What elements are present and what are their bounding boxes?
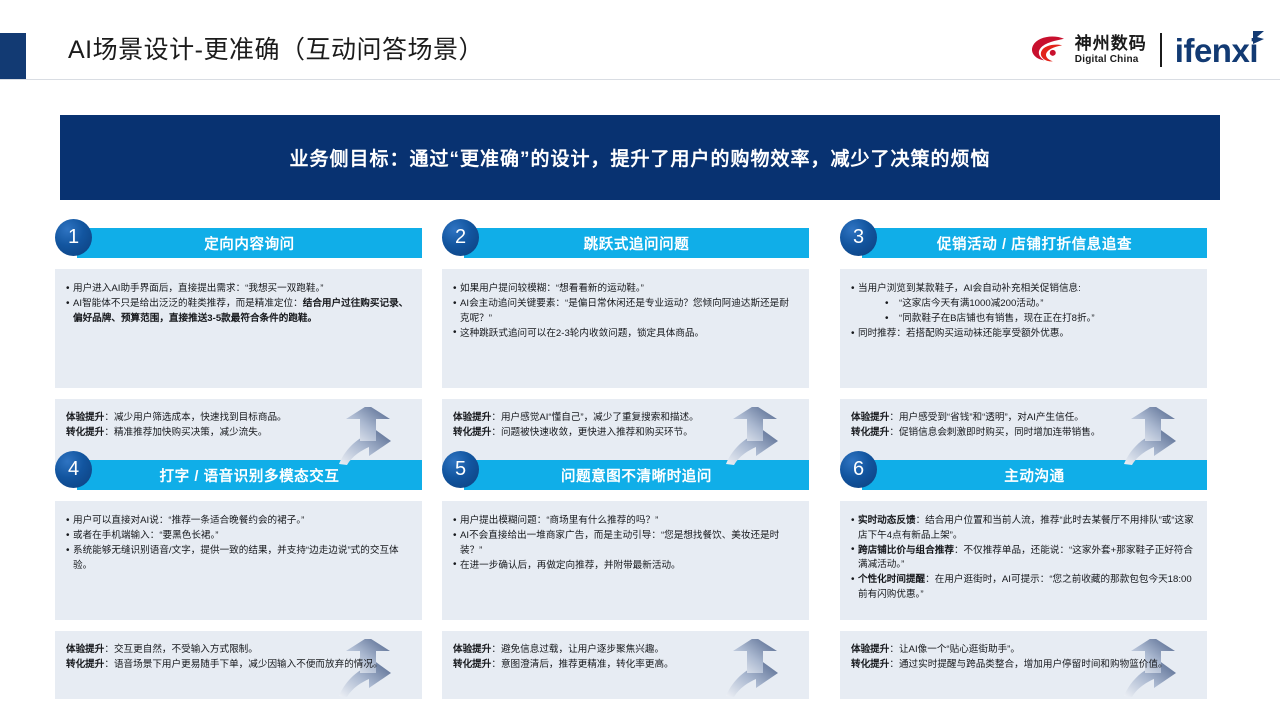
conversion-uplift-value: 精准推荐加快购买决策，减少流失。: [114, 427, 268, 438]
conversion-uplift-row: 转化提升：通过实时提醒与跨品类整合，增加用户停留时间和购物篮价值。: [851, 658, 1196, 673]
card-title-bar: 打字 / 语音识别多模态交互: [77, 460, 422, 490]
experience-uplift-label: 体验提升: [851, 644, 889, 655]
experience-uplift-value: 用户感觉AI“懂自己”，减少了重复搜索和描述。: [501, 412, 699, 423]
card-bullet-list: 如果用户提问较模糊：“想看看新的运动鞋。”AI会主动追问关键要素：“是偏日常休闲…: [453, 282, 798, 341]
card-title-bar: 促销活动 / 店铺打折信息追查: [862, 228, 1207, 258]
experience-uplift-label: 体验提升: [453, 412, 491, 423]
card-benefit-text: 体验提升：减少用户筛选成本，快速找到目标商品。转化提升：精准推荐加快购买决策，减…: [66, 411, 411, 440]
card-bullet-item: 这种跳跃式追问可以在2-3轮内收敛问题，锁定具体商品。: [453, 327, 798, 342]
card-description-panel: 实时动态反馈：结合用户位置和当前人流，推荐“此时去某餐厅不用排队”或“这家店下午…: [840, 501, 1207, 620]
experience-uplift-label: 体验提升: [851, 412, 889, 423]
experience-uplift-row: 体验提升：用户感觉AI“懂自己”，减少了重复搜索和描述。: [453, 411, 798, 426]
scenario-card: 跳跃式追问问题2如果用户提问较模糊：“想看看新的运动鞋。”AI会主动追问关键要素…: [442, 228, 809, 467]
card-header: 主动沟通6: [840, 460, 1207, 490]
card-bullet-item: 个性化时间提醒：在用户逛街时，AI可提示：“您之前收藏的那款包包今天18:00前…: [851, 573, 1196, 602]
card-benefit-panel: 体验提升：用户感觉AI“懂自己”，减少了重复搜索和描述。转化提升：问题被快速收敛…: [442, 399, 809, 467]
card-benefit-text: 体验提升：避免信息过载，让用户逐步聚焦兴趣。转化提升：意图澄清后，推荐更精准，转…: [453, 643, 798, 672]
scenario-card: 定向内容询问1用户进入AI助手界面后，直接提出需求：“我想买一双跑鞋。”AI智能…: [55, 228, 422, 467]
conversion-uplift-row: 转化提升：问题被快速收敛，更快进入推荐和购买环节。: [453, 426, 798, 441]
card-number-badge: 2: [442, 219, 479, 256]
card-benefit-panel: 体验提升：交互更自然，不受输入方式限制。转化提升：语音场景下用户更易随手下单，减…: [55, 631, 422, 699]
header-divider: [0, 79, 1280, 80]
card-bullet-item: 当用户浏览到某款鞋子，AI会自动补充相关促销信息:: [851, 282, 1196, 297]
conversion-uplift-value: 意图澄清后，推荐更精准，转化率更高。: [501, 659, 674, 670]
conversion-uplift-row: 转化提升：精准推荐加快购买决策，减少流失。: [66, 426, 411, 441]
experience-uplift-value: 避免信息过载，让用户逐步聚焦兴趣。: [501, 644, 664, 655]
card-bullet-item: 用户进入AI助手界面后，直接提出需求：“我想买一双跑鞋。”: [66, 282, 411, 297]
card-title: 定向内容询问: [204, 233, 295, 254]
ifenxi-logo: ifenxi: [1175, 34, 1262, 67]
card-benefit-panel: 体验提升：减少用户筛选成本，快速找到目标商品。转化提升：精准推荐加快购买决策，减…: [55, 399, 422, 467]
page-header: AI场景设计-更准确（互动问答场景） 神州数码 Digital China if…: [0, 0, 1280, 80]
scenario-card-grid: 定向内容询问1用户进入AI助手界面后，直接提出需求：“我想买一双跑鞋。”AI智能…: [55, 228, 1230, 698]
experience-uplift-value: 交互更自然，不受输入方式限制。: [114, 644, 258, 655]
scenario-card: 促销活动 / 店铺打折信息追查3当用户浏览到某款鞋子，AI会自动补充相关促销信息…: [840, 228, 1207, 467]
conversion-uplift-label: 转化提升: [851, 659, 889, 670]
conversion-uplift-label: 转化提升: [66, 427, 104, 438]
experience-uplift-row: 体验提升：让AI像一个“贴心逛街助手”。: [851, 643, 1196, 658]
card-title-bar: 跳跃式追问问题: [464, 228, 809, 258]
card-bullet-item: 或者在手机端输入：“要黑色长裙。”: [66, 529, 411, 544]
digital-china-wordmark: 神州数码 Digital China: [1075, 35, 1147, 65]
card-title: 跳跃式追问问题: [584, 233, 690, 254]
digital-china-swoosh-icon: [1030, 35, 1068, 65]
card-number-badge: 6: [840, 451, 877, 488]
conversion-uplift-label: 转化提升: [453, 427, 491, 438]
card-title: 主动沟通: [1004, 465, 1064, 486]
card-description-panel: 当用户浏览到某款鞋子，AI会自动补充相关促销信息:“这家店今天有满1000减20…: [840, 269, 1207, 388]
experience-uplift-label: 体验提升: [453, 644, 491, 655]
experience-uplift-value: 用户感受到“省钱”和“透明”，对AI产生信任。: [899, 412, 1084, 423]
logo-group: 神州数码 Digital China ifenxi: [1030, 27, 1262, 73]
card-bullet-item: 实时动态反馈：结合用户位置和当前人流，推荐“此时去某餐厅不用排队”或“这家店下午…: [851, 514, 1196, 543]
conversion-uplift-value: 语音场景下用户更易随手下单，减少因输入不便而放弃的情况。: [114, 659, 383, 670]
card-bullet-list: 实时动态反馈：结合用户位置和当前人流，推荐“此时去某餐厅不用排队”或“这家店下午…: [851, 514, 1196, 602]
card-bullet-item: 用户提出模糊问题：“商场里有什么推荐的吗？”: [453, 514, 798, 529]
experience-uplift-value: 减少用户筛选成本，快速找到目标商品。: [114, 412, 287, 423]
card-title-bar: 问题意图不清晰时追问: [464, 460, 809, 490]
card-description-panel: 用户提出模糊问题：“商场里有什么推荐的吗？”AI不会直接给出一堆商家广告，而是主…: [442, 501, 809, 620]
card-title-bar: 定向内容询问: [77, 228, 422, 258]
conversion-uplift-label: 转化提升: [851, 427, 889, 438]
page-title: AI场景设计-更准确（互动问答场景）: [68, 33, 484, 67]
card-header: 定向内容询问1: [55, 228, 422, 258]
conversion-uplift-label: 转化提升: [66, 659, 104, 670]
card-bullet-item: 如果用户提问较模糊：“想看看新的运动鞋。”: [453, 282, 798, 297]
ifenxi-flag-icon: [1252, 30, 1265, 45]
conversion-uplift-row: 转化提升：意图澄清后，推荐更精准，转化率更高。: [453, 658, 798, 673]
digital-china-name-en: Digital China: [1075, 55, 1147, 65]
card-number-badge: 1: [55, 219, 92, 256]
card-bullet-item: 在进一步确认后，再做定向推荐，并附带最新活动。: [453, 559, 798, 574]
card-bullet-list: 用户进入AI助手界面后，直接提出需求：“我想买一双跑鞋。”AI智能体不只是给出泛…: [66, 282, 411, 326]
card-bullet-item: 跨店铺比价与组合推荐：不仅推荐单品，还能说：“这家外套+那家鞋子正好符合满减活动…: [851, 544, 1196, 573]
card-bullet-list: 用户可以直接对AI说：“推荐一条适合晚餐约会的裙子。”或者在手机端输入：“要黑色…: [66, 514, 411, 573]
experience-uplift-row: 体验提升：减少用户筛选成本，快速找到目标商品。: [66, 411, 411, 426]
card-number-badge: 5: [442, 451, 479, 488]
experience-uplift-label: 体验提升: [66, 644, 104, 655]
card-number-badge: 4: [55, 451, 92, 488]
card-bullet-list: 用户提出模糊问题：“商场里有什么推荐的吗？”AI不会直接给出一堆商家广告，而是主…: [453, 514, 798, 573]
card-title: 问题意图不清晰时追问: [561, 465, 712, 486]
digital-china-logo: 神州数码 Digital China: [1030, 35, 1147, 65]
experience-uplift-value: 让AI像一个“贴心逛街助手”。: [899, 644, 1020, 655]
card-bullet-item: 系统能够无缝识别语音/文字，提供一致的结果，并支持“边走边说”式的交互体验。: [66, 544, 411, 573]
card-title: 促销活动 / 店铺打折信息追查: [937, 233, 1132, 254]
objective-banner-text: 业务侧目标：通过“更准确”的设计，提升了用户的购物效率，减少了决策的烦恼: [289, 144, 990, 171]
card-bullet-list: 当用户浏览到某款鞋子，AI会自动补充相关促销信息:“这家店今天有满1000减20…: [851, 282, 1196, 342]
experience-uplift-label: 体验提升: [66, 412, 104, 423]
card-title: 打字 / 语音识别多模态交互: [160, 465, 340, 486]
card-bullet-item: “这家店今天有满1000减200活动。”: [851, 297, 1196, 312]
card-number-badge: 3: [840, 219, 877, 256]
card-benefit-text: 体验提升：让AI像一个“贴心逛街助手”。转化提升：通过实时提醒与跨品类整合，增加…: [851, 643, 1196, 672]
card-title-bar: 主动沟通: [862, 460, 1207, 490]
card-header: 促销活动 / 店铺打折信息追查3: [840, 228, 1207, 258]
card-benefit-panel: 体验提升：让AI像一个“贴心逛街助手”。转化提升：通过实时提醒与跨品类整合，增加…: [840, 631, 1207, 699]
conversion-uplift-row: 转化提升：促销信息会刺激即时购买，同时增加连带销售。: [851, 426, 1196, 441]
card-benefit-text: 体验提升：交互更自然，不受输入方式限制。转化提升：语音场景下用户更易随手下单，减…: [66, 643, 411, 672]
card-header: 跳跃式追问问题2: [442, 228, 809, 258]
conversion-uplift-row: 转化提升：语音场景下用户更易随手下单，减少因输入不便而放弃的情况。: [66, 658, 411, 673]
scenario-card: 主动沟通6实时动态反馈：结合用户位置和当前人流，推荐“此时去某餐厅不用排队”或“…: [840, 460, 1207, 699]
card-header: 打字 / 语音识别多模态交互4: [55, 460, 422, 490]
card-benefit-panel: 体验提升：避免信息过载，让用户逐步聚焦兴趣。转化提升：意图澄清后，推荐更精准，转…: [442, 631, 809, 699]
header-accent-tab: [0, 33, 26, 80]
logo-divider: [1160, 33, 1162, 67]
card-bullet-item: AI不会直接给出一堆商家广告，而是主动引导：“您是想找餐饮、美妆还是时装？”: [453, 529, 798, 558]
conversion-uplift-value: 促销信息会刺激即时购买，同时增加连带销售。: [899, 427, 1100, 438]
experience-uplift-row: 体验提升：交互更自然，不受输入方式限制。: [66, 643, 411, 658]
scenario-card: 问题意图不清晰时追问5用户提出模糊问题：“商场里有什么推荐的吗？”AI不会直接给…: [442, 460, 809, 699]
card-description-panel: 用户可以直接对AI说：“推荐一条适合晚餐约会的裙子。”或者在手机端输入：“要黑色…: [55, 501, 422, 620]
card-benefit-text: 体验提升：用户感受到“省钱”和“透明”，对AI产生信任。转化提升：促销信息会刺激…: [851, 411, 1196, 440]
card-description-panel: 用户进入AI助手界面后，直接提出需求：“我想买一双跑鞋。”AI智能体不只是给出泛…: [55, 269, 422, 388]
card-bullet-item: AI会主动追问关键要素：“是偏日常休闲还是专业运动？您倾向阿迪达斯还是耐克呢？”: [453, 297, 798, 326]
card-benefit-text: 体验提升：用户感觉AI“懂自己”，减少了重复搜索和描述。转化提升：问题被快速收敛…: [453, 411, 798, 440]
scenario-card: 打字 / 语音识别多模态交互4用户可以直接对AI说：“推荐一条适合晚餐约会的裙子…: [55, 460, 422, 699]
card-description-panel: 如果用户提问较模糊：“想看看新的运动鞋。”AI会主动追问关键要素：“是偏日常休闲…: [442, 269, 809, 388]
card-bullet-item: 同时推荐：若搭配购买运动袜还能享受额外优惠。: [851, 327, 1196, 342]
conversion-uplift-label: 转化提升: [453, 659, 491, 670]
objective-banner: 业务侧目标：通过“更准确”的设计，提升了用户的购物效率，减少了决策的烦恼: [60, 115, 1220, 200]
experience-uplift-row: 体验提升：用户感受到“省钱”和“透明”，对AI产生信任。: [851, 411, 1196, 426]
card-benefit-panel: 体验提升：用户感受到“省钱”和“透明”，对AI产生信任。转化提升：促销信息会刺激…: [840, 399, 1207, 467]
card-bullet-item: 用户可以直接对AI说：“推荐一条适合晚餐约会的裙子。”: [66, 514, 411, 529]
card-bullet-item: “同款鞋子在B店铺也有销售，现在正在打8折。”: [851, 312, 1196, 327]
digital-china-name-cn: 神州数码: [1075, 35, 1147, 52]
experience-uplift-row: 体验提升：避免信息过载，让用户逐步聚焦兴趣。: [453, 643, 798, 658]
conversion-uplift-value: 通过实时提醒与跨品类整合，增加用户停留时间和购物篮价值。: [899, 659, 1168, 670]
card-bullet-item: AI智能体不只是给出泛泛的鞋类推荐，而是精准定位：结合用户过往购买记录、偏好品牌…: [66, 297, 411, 326]
card-header: 问题意图不清晰时追问5: [442, 460, 809, 490]
ifenxi-wordmark: ifenxi: [1175, 32, 1258, 69]
conversion-uplift-value: 问题被快速收敛，更快进入推荐和购买环节。: [501, 427, 693, 438]
